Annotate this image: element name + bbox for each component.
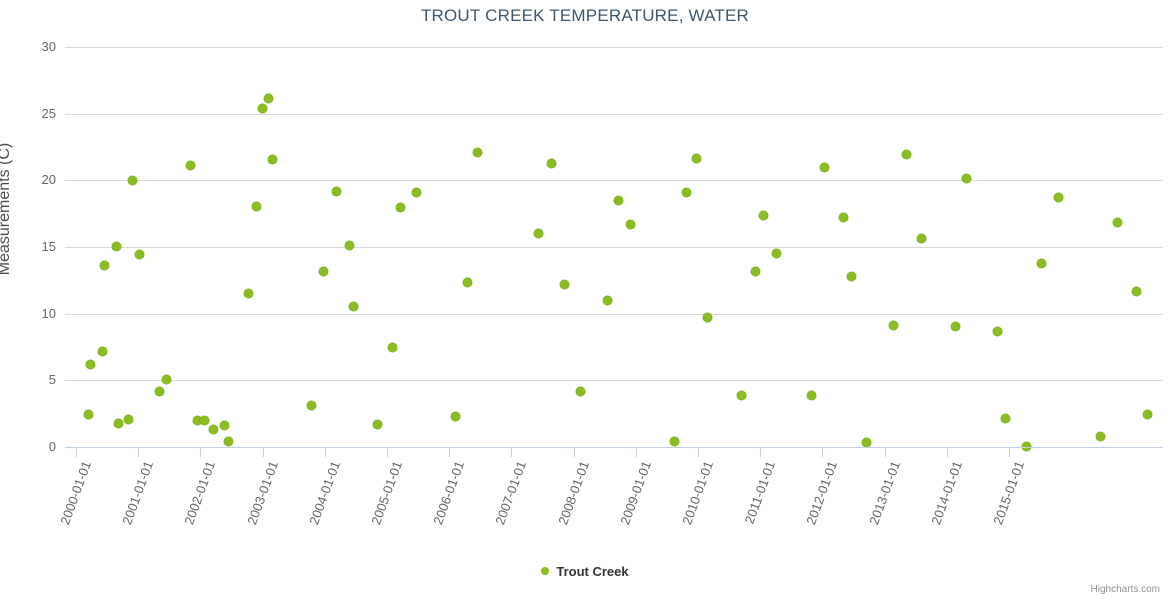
data-point[interactable]	[155, 387, 164, 396]
legend-item-trout-creek[interactable]: Trout Creek	[541, 563, 628, 579]
data-point[interactable]	[682, 188, 691, 197]
data-point[interactable]	[917, 234, 926, 243]
data-point[interactable]	[692, 154, 701, 163]
data-point[interactable]	[576, 387, 585, 396]
chart-legend: Trout Creek	[0, 563, 1170, 579]
data-point[interactable]	[412, 188, 421, 197]
data-point[interactable]	[751, 267, 760, 276]
data-point[interactable]	[84, 410, 93, 419]
x-axis-tick-label: 2009-01-01	[609, 459, 654, 549]
data-point[interactable]	[332, 187, 341, 196]
data-point[interactable]	[862, 438, 871, 447]
data-point[interactable]	[373, 420, 382, 429]
chart-title: TROUT CREEK TEMPERATURE, WATER	[0, 6, 1170, 26]
x-axis-tick-label: 2011-01-01	[733, 459, 778, 549]
x-axis-tick-label: 2010-01-01	[671, 459, 716, 549]
x-axis-tick	[325, 448, 326, 457]
data-point[interactable]	[114, 419, 123, 428]
y-axis-tick-label: 0	[16, 440, 56, 453]
data-point[interactable]	[100, 261, 109, 270]
x-axis-tick	[636, 448, 637, 457]
data-point[interactable]	[560, 280, 569, 289]
x-axis-tick	[947, 448, 948, 457]
gridline	[65, 247, 1163, 248]
data-point[interactable]	[1143, 410, 1152, 419]
data-point[interactable]	[209, 425, 218, 434]
data-point[interactable]	[839, 213, 848, 222]
x-axis-tick-label: 2012-01-01	[796, 459, 841, 549]
x-axis-tick-label: 2008-01-01	[547, 459, 592, 549]
x-axis-tick	[760, 448, 761, 457]
x-axis-tick	[200, 448, 201, 457]
x-axis-tick	[1009, 448, 1010, 457]
data-point[interactable]	[345, 241, 354, 250]
y-axis-tick-label: 30	[16, 40, 56, 53]
y-axis-title: Measurements (C)	[0, 29, 14, 389]
data-point[interactable]	[98, 347, 107, 356]
data-point[interactable]	[473, 148, 482, 157]
gridline	[65, 314, 1163, 315]
data-point[interactable]	[224, 437, 233, 446]
data-point[interactable]	[86, 360, 95, 369]
y-axis-tick-label: 25	[16, 107, 56, 120]
y-axis-tick-label: 10	[16, 307, 56, 320]
x-axis-tick	[76, 448, 77, 457]
data-point[interactable]	[820, 163, 829, 172]
chart-container: TROUT CREEK TEMPERATURE, WATER Measureme…	[0, 0, 1170, 600]
data-point[interactable]	[162, 375, 171, 384]
data-point[interactable]	[807, 391, 816, 400]
data-point[interactable]	[388, 343, 397, 352]
plot-area	[65, 47, 1163, 447]
gridline	[65, 180, 1163, 181]
data-point[interactable]	[603, 296, 612, 305]
data-point[interactable]	[396, 203, 405, 212]
legend-marker-icon	[541, 567, 549, 575]
data-point[interactable]	[626, 220, 635, 229]
data-point[interactable]	[186, 161, 195, 170]
x-axis-tick	[574, 448, 575, 457]
data-point[interactable]	[1054, 193, 1063, 202]
data-point[interactable]	[547, 159, 556, 168]
x-axis-tick-label: 2013-01-01	[858, 459, 903, 549]
x-axis-tick-label: 2003-01-01	[236, 459, 281, 549]
x-axis-tick	[698, 448, 699, 457]
data-point[interactable]	[258, 104, 267, 113]
x-axis-tick	[263, 448, 264, 457]
credits-label: Highcharts.com	[1091, 584, 1160, 595]
data-point[interactable]	[463, 278, 472, 287]
data-point[interactable]	[451, 412, 460, 421]
data-point[interactable]	[268, 155, 277, 164]
x-axis-tick	[822, 448, 823, 457]
data-point[interactable]	[902, 150, 911, 159]
y-axis-tick-label: 15	[16, 240, 56, 253]
data-point[interactable]	[128, 176, 137, 185]
data-point[interactable]	[993, 327, 1002, 336]
data-point[interactable]	[703, 313, 712, 322]
x-axis-tick-label: 2015-01-01	[982, 459, 1027, 549]
gridline	[65, 114, 1163, 115]
data-point[interactable]	[847, 272, 856, 281]
data-point[interactable]	[1022, 442, 1031, 451]
data-point[interactable]	[1037, 259, 1046, 268]
data-point[interactable]	[1113, 218, 1122, 227]
data-point[interactable]	[135, 250, 144, 259]
data-point[interactable]	[112, 242, 121, 251]
x-axis-tick-label: 2005-01-01	[360, 459, 405, 549]
y-axis-tick-label: 5	[16, 373, 56, 386]
data-point[interactable]	[889, 321, 898, 330]
data-point[interactable]	[220, 421, 229, 430]
y-axis-tick-label: 20	[16, 173, 56, 186]
data-point[interactable]	[307, 401, 316, 410]
x-axis-tick-label: 2001-01-01	[111, 459, 156, 549]
x-axis-tick-label: 2014-01-01	[920, 459, 965, 549]
x-axis-line	[65, 447, 1163, 448]
data-point[interactable]	[264, 94, 273, 103]
data-point[interactable]	[614, 196, 623, 205]
gridline	[65, 47, 1163, 48]
data-point[interactable]	[244, 289, 253, 298]
data-point[interactable]	[1096, 432, 1105, 441]
data-point[interactable]	[737, 391, 746, 400]
data-point[interactable]	[772, 249, 781, 258]
x-axis-tick	[885, 448, 886, 457]
data-point[interactable]	[962, 174, 971, 183]
x-axis-tick-label: 2006-01-01	[422, 459, 467, 549]
data-point[interactable]	[670, 437, 679, 446]
x-axis-tick-label: 2004-01-01	[298, 459, 343, 549]
data-point[interactable]	[1001, 414, 1010, 423]
data-point[interactable]	[951, 322, 960, 331]
x-axis-tick	[449, 448, 450, 457]
data-point[interactable]	[759, 211, 768, 220]
x-axis-tick	[138, 448, 139, 457]
data-point[interactable]	[124, 415, 133, 424]
data-point[interactable]	[200, 416, 209, 425]
data-point[interactable]	[252, 202, 261, 211]
data-point[interactable]	[319, 267, 328, 276]
data-point[interactable]	[1132, 287, 1141, 296]
legend-item-label: Trout Creek	[556, 564, 628, 579]
x-axis-tick-label: 2002-01-01	[174, 459, 219, 549]
x-axis-tick-label: 2007-01-01	[485, 459, 530, 549]
x-axis-tick	[387, 448, 388, 457]
x-axis-tick-label: 2000-01-01	[49, 459, 94, 549]
x-axis-tick	[511, 448, 512, 457]
data-point[interactable]	[534, 229, 543, 238]
data-point[interactable]	[349, 302, 358, 311]
gridline	[65, 380, 1163, 381]
